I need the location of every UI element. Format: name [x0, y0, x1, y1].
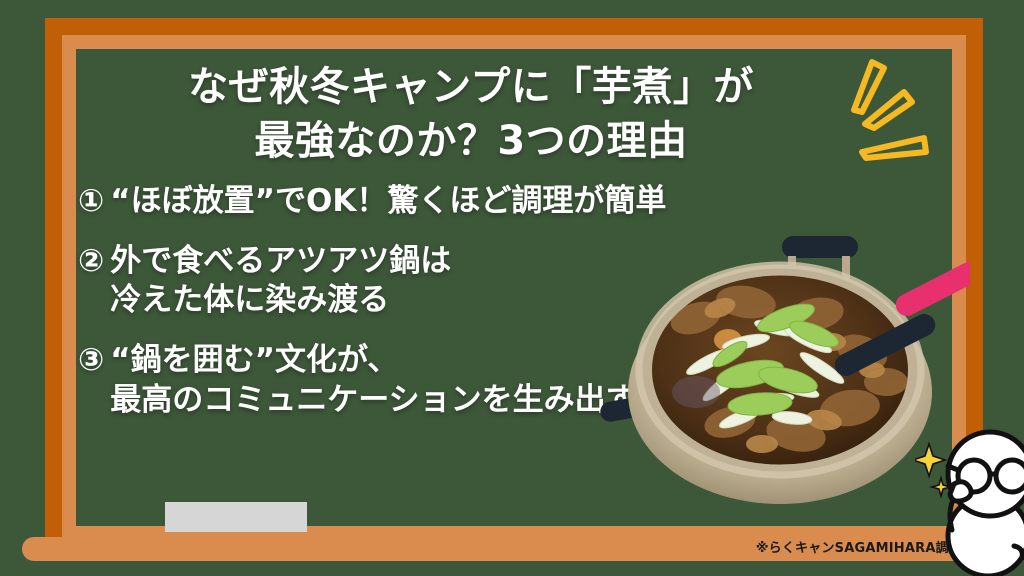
title-line-1: なぜ秋冬キャンプに「芋煮」が [76, 60, 866, 114]
reason-number: ① [78, 182, 104, 221]
reason-line: “鍋を囲む”文化が、 [110, 341, 636, 381]
reason-line: 外で食べるアツアツ鍋は [110, 242, 451, 282]
chalkboard-eraser [165, 502, 307, 532]
reason-line: “ほぼ放置”でOK！驚くほど調理が簡単 [110, 182, 666, 222]
reason-text: “鍋を囲む”文化が、 最高のコミュニケーションを生み出す [110, 341, 636, 420]
reason-line: 冷えた体に染み渡る [110, 281, 451, 321]
title-line-2: 最強なのか？3つの理由 [76, 114, 866, 168]
slide-canvas: なぜ秋冬キャンプに「芋煮」が 最強なのか？3つの理由 ① “ほぼ放置”でOK！驚… [0, 0, 1024, 576]
reason-number: ② [78, 242, 104, 281]
credit-note: ※らくキャンSAGAMIHARA調べ [756, 537, 962, 561]
reason-number: ③ [78, 341, 104, 380]
page-title: なぜ秋冬キャンプに「芋煮」が 最強なのか？3つの理由 [76, 60, 866, 168]
list-item: ① “ほぼ放置”でOK！驚くほど調理が簡単 [78, 182, 958, 222]
reason-text: “ほぼ放置”でOK！驚くほど調理が簡単 [110, 182, 666, 222]
reason-text: 外で食べるアツアツ鍋は 冷えた体に染み渡る [110, 242, 451, 321]
reason-line: 最高のコミュニケーションを生み出す [110, 381, 636, 421]
reasons-list: ① “ほぼ放置”でOK！驚くほど調理が簡単 ② 外で食べるアツアツ鍋は 冷えた体… [78, 182, 958, 440]
list-item: ③ “鍋を囲む”文化が、 最高のコミュニケーションを生み出す [78, 341, 958, 420]
list-item: ② 外で食べるアツアツ鍋は 冷えた体に染み渡る [78, 242, 958, 321]
